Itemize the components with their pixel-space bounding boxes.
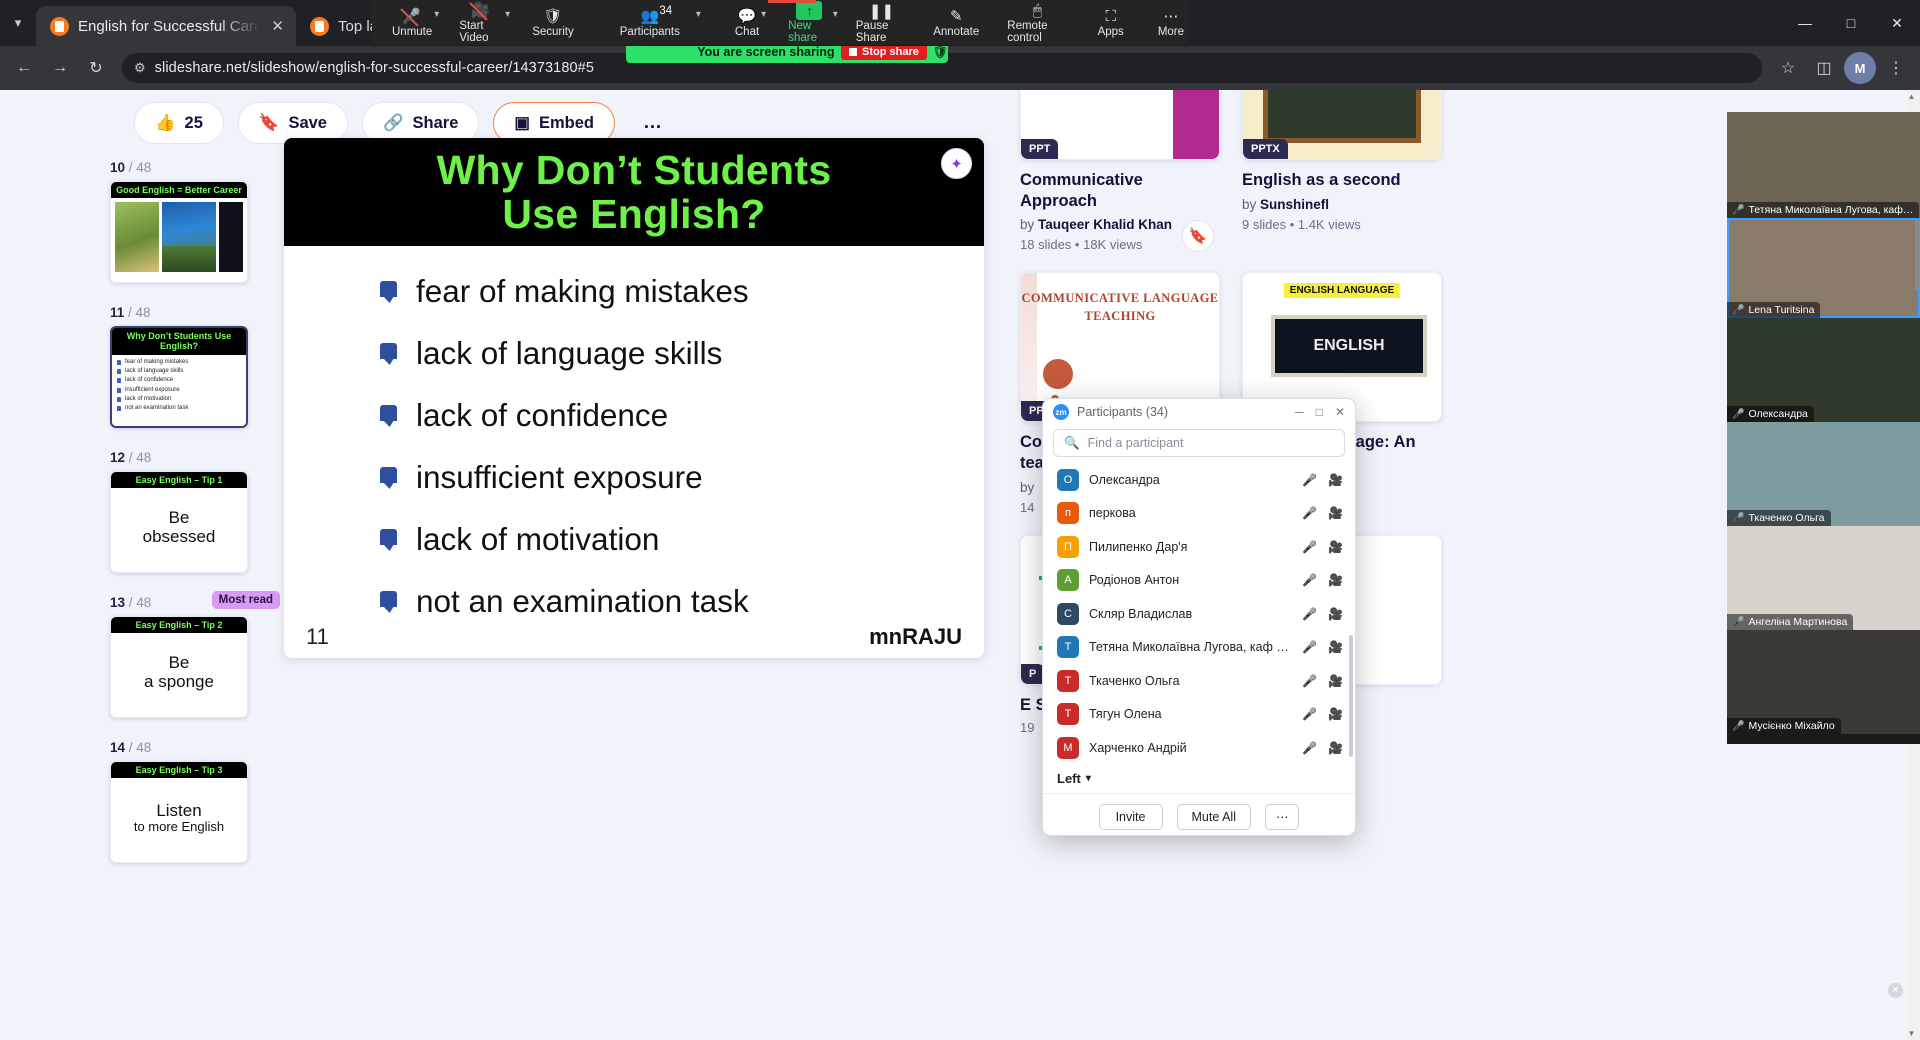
chat-bubble-icon: 💬 bbox=[738, 7, 757, 26]
forward-arrow-icon[interactable]: → bbox=[44, 52, 76, 84]
video-tile[interactable]: 🎤 Ангеліна Мартинова bbox=[1727, 526, 1920, 630]
scroll-up-arrow-icon[interactable]: ▲ bbox=[1905, 92, 1918, 101]
zoom-button-label: Unmute bbox=[392, 27, 432, 39]
slide-bullet: insufficient exposure bbox=[380, 446, 984, 508]
zoom-button-label: Annotate bbox=[933, 27, 979, 39]
thumbnail-header: Why Don’t Students Use English? bbox=[112, 328, 246, 355]
microphone-muted-icon: 🎤 bbox=[1732, 205, 1744, 216]
video-strip-scrollbar[interactable] bbox=[1915, 220, 1919, 290]
zoom-button-label: Remote control bbox=[1007, 21, 1067, 44]
microphone-muted-icon[interactable]: 🎤 bbox=[1302, 506, 1317, 520]
window-controls: — □ ✕ bbox=[1782, 0, 1920, 46]
avatar: T bbox=[1057, 670, 1079, 692]
ellipsis-icon: … bbox=[643, 112, 662, 134]
slide-title-bar: Why Don’t Students Use English? bbox=[284, 138, 984, 246]
slide-bullet-text: lack of confidence bbox=[416, 397, 668, 434]
slide-bullet-text: fear of making mistakes bbox=[416, 273, 749, 310]
slideshare-page: 👍 25 🔖 Save 🔗 Share ▣ Embed … bbox=[0, 90, 1920, 1040]
camera-off-icon[interactable]: 🎥 bbox=[1328, 674, 1343, 688]
zoom-unmute-button[interactable]: 🎤 Unmute bbox=[388, 0, 436, 46]
megaphone-bullet-icon bbox=[380, 341, 402, 365]
shield-icon[interactable]: 🛡 bbox=[933, 45, 948, 59]
thumbnail-header: Good English = Better Career bbox=[111, 182, 247, 198]
profile-avatar[interactable]: M bbox=[1844, 52, 1876, 84]
microphone-muted-icon[interactable]: 🎤 bbox=[1302, 674, 1317, 688]
sharing-indicator bbox=[768, 0, 816, 3]
minimize-icon[interactable]: ─ bbox=[1295, 405, 1304, 419]
share-icon: 🔗 bbox=[383, 114, 404, 133]
slide-bullet: fear of making mistakes bbox=[380, 260, 984, 322]
related-card[interactable]: LANGUAGE PPTX English as a second by Sun… bbox=[1242, 90, 1442, 252]
participant-row[interactable]: T Ткаченко Ольга 🎤🎥 bbox=[1043, 664, 1355, 698]
microphone-muted-icon: 🎤 bbox=[1732, 305, 1744, 316]
zoom-more-button[interactable]: ⋯ More bbox=[1154, 0, 1188, 46]
camera-off-icon[interactable]: 🎥 bbox=[1328, 506, 1343, 520]
cover-board bbox=[1263, 90, 1421, 143]
video-participant-name: 🎤 Ткаченко Ольга bbox=[1727, 510, 1831, 526]
zoom-remote-control-button[interactable]: 🖱 Remote control bbox=[1003, 0, 1071, 46]
participant-name: перкова bbox=[1089, 506, 1292, 520]
participant-name: Скляр Владислав bbox=[1089, 607, 1292, 621]
share-screen-icon: ↑ bbox=[796, 1, 822, 20]
left-participants-section[interactable]: Left ▾ bbox=[1043, 763, 1355, 793]
zoom-start-video-button[interactable]: 🎥 Start Video bbox=[455, 0, 507, 46]
thumbnail-item-12[interactable]: 12 / 48 Easy English – Tip 1 Be obsessed bbox=[110, 450, 280, 573]
slide-footer: 11 mnRAJU bbox=[284, 624, 984, 650]
avatar: M bbox=[1057, 737, 1079, 759]
slide-bullet: not an examination task bbox=[380, 570, 984, 632]
zoom-video-strip: 🎤 Тетяна Миколаївна Лугова, каф… 🎤 Lena … bbox=[1727, 112, 1920, 744]
slide-signature: mnRAJU bbox=[869, 624, 962, 650]
thumbnail-item-11[interactable]: 11 / 48 Why Don’t Students Use English? … bbox=[110, 305, 280, 428]
camera-off-icon[interactable]: 🎥 bbox=[1328, 607, 1343, 621]
video-participant-name: 🎤 Тетяна Миколаївна Лугова, каф… bbox=[1727, 202, 1919, 218]
microphone-muted-icon: 🎤 bbox=[1732, 513, 1744, 524]
participant-row[interactable]: C Скляр Владислав 🎤🎥 bbox=[1043, 597, 1355, 631]
related-card[interactable]: COL MOHAMMAD KHALID KHAN (MA ENGLISH, MA… bbox=[1020, 90, 1220, 252]
avatar: п bbox=[1057, 502, 1079, 524]
participant-row[interactable]: M Харченко Андрій 🎤🎥 bbox=[1043, 731, 1355, 763]
zoom-button-label: More bbox=[1158, 27, 1184, 39]
participant-name: Ткаченко Ольга bbox=[1089, 674, 1292, 688]
related-title[interactable]: English as a second bbox=[1242, 170, 1442, 191]
zoom-pause-share-button[interactable]: ❚❚ Pause Share bbox=[852, 0, 911, 46]
thumbnail-image[interactable]: Good English = Better Career bbox=[110, 181, 248, 283]
microphone-muted-icon[interactable]: 🎤 bbox=[1302, 573, 1317, 587]
zoom-button-label: Security bbox=[532, 27, 574, 39]
slide-bullet: lack of motivation bbox=[380, 508, 984, 570]
video-tile-active[interactable]: 🎤 Lena Turitsina bbox=[1727, 218, 1920, 318]
browser-toolbar: ← → ↻ ⚙ slideshare.net/slideshow/english… bbox=[0, 46, 1920, 90]
thumbnail-bullet: lack of language skills bbox=[117, 367, 241, 376]
share-label: Share bbox=[413, 114, 459, 133]
microphone-muted-icon[interactable]: 🎤 bbox=[1302, 707, 1317, 721]
thumbnail-number: 10 / 48 bbox=[110, 160, 280, 175]
related-author: by Sunshinefl bbox=[1242, 197, 1442, 212]
search-placeholder: Find a participant bbox=[1088, 436, 1184, 450]
related-thumbnail[interactable]: LANGUAGE PPTX bbox=[1242, 90, 1442, 160]
thumbnail-number: 11 / 48 bbox=[110, 305, 280, 320]
participant-name: Харченко Андрій bbox=[1089, 741, 1292, 755]
participants-list[interactable]: O Олександра 🎤🎥 п перкова 🎤🎥 П Пилипенко… bbox=[1043, 463, 1355, 763]
stop-share-label: Stop share bbox=[862, 46, 919, 58]
thumbnail-bullet: lack of motivation bbox=[117, 395, 241, 404]
slide-viewer: ✦ Why Don’t Students Use English? fear o… bbox=[284, 138, 984, 658]
zoom-participants-button[interactable]: 👥 34 Participants bbox=[616, 0, 684, 46]
participant-row[interactable]: T Тягун Олена 🎤🎥 bbox=[1043, 698, 1355, 732]
zoom-button-label: Pause Share bbox=[856, 21, 907, 44]
thumbnail-item-10[interactable]: 10 / 48 Good English = Better Career bbox=[110, 160, 280, 283]
zoom-apps-button[interactable]: ⛶ Apps bbox=[1094, 0, 1128, 46]
tab-title: English for Successful Career | P bbox=[78, 18, 260, 35]
thumbnail-image[interactable]: Easy English – Tip 1 Be obsessed bbox=[110, 471, 248, 573]
microphone-muted-icon[interactable]: 🎤 bbox=[1302, 607, 1317, 621]
participant-name: Тетяна Миколаївна Лугова, каф Англ мо… bbox=[1089, 640, 1292, 654]
scroll-down-arrow-icon[interactable]: ▼ bbox=[1905, 1029, 1918, 1038]
video-tile[interactable]: 🎤 Ткаченко Ольга bbox=[1727, 422, 1920, 526]
megaphone-bullet-icon bbox=[380, 465, 402, 489]
participants-scrollbar[interactable] bbox=[1349, 635, 1353, 757]
participant-row[interactable]: O Олександра 🎤🎥 bbox=[1043, 463, 1355, 497]
maximize-icon[interactable]: □ bbox=[1828, 0, 1874, 46]
cover-text: ENGLISH LANGUAGE bbox=[1284, 283, 1400, 298]
close-icon[interactable]: ✕ bbox=[269, 17, 284, 35]
slideshare-favicon bbox=[310, 17, 329, 36]
extensions-icon[interactable]: ◫ bbox=[1808, 52, 1840, 84]
avatar: T bbox=[1057, 703, 1079, 725]
thumbnail-bullet: not an examination task bbox=[117, 404, 241, 413]
url-text: slideshare.net/slideshow/english-for-suc… bbox=[155, 60, 594, 76]
camera-off-icon[interactable]: 🎥 bbox=[1328, 741, 1343, 755]
sparkle-icon[interactable]: ✦ bbox=[941, 148, 972, 179]
section-label: Left bbox=[1057, 771, 1081, 786]
zoom-meeting-toolbar: 🎤 Unmute ▾ 🎥 Start Video ▾ 🛡 Security 👥 … bbox=[372, 0, 1188, 46]
chevron-down-icon[interactable]: ▾ bbox=[1086, 773, 1091, 784]
video-participant-name: 🎤 Олександра bbox=[1727, 406, 1814, 422]
thumbnail-number: 14 / 48 bbox=[110, 740, 280, 755]
microphone-muted-icon[interactable]: 🎤 bbox=[1302, 540, 1317, 554]
bookmark-icon[interactable]: 🔖 bbox=[1182, 220, 1214, 252]
camera-off-icon[interactable]: 🎥 bbox=[1328, 707, 1343, 721]
slide-bullet-text: not an examination task bbox=[416, 583, 749, 620]
cover-text: COMMUNICATIVE LANGUAGE TEACHING bbox=[1021, 289, 1219, 325]
cover-accent bbox=[1173, 90, 1219, 159]
thumbnail-header: Easy English – Tip 3 bbox=[111, 762, 247, 778]
shield-icon: 🛡 bbox=[543, 7, 562, 26]
thumbnail-text: Be obsessed bbox=[111, 488, 247, 566]
tab-search-icon[interactable]: ▾ bbox=[0, 0, 36, 46]
zoom-security-button[interactable]: 🛡 Security bbox=[528, 0, 578, 46]
video-tile[interactable]: 🎤 Мусієнко Міхайло bbox=[1727, 630, 1920, 734]
thumbnail-text: Listen to more English bbox=[111, 778, 247, 856]
apps-icon: ⛶ bbox=[1105, 7, 1116, 26]
thumbnail-image-selected[interactable]: Why Don’t Students Use English? fear of … bbox=[110, 326, 248, 428]
participant-name: Родіонов Антон bbox=[1089, 573, 1292, 587]
avatar: O bbox=[1057, 469, 1079, 491]
photo-placeholder bbox=[219, 202, 243, 272]
participant-row[interactable]: п перкова 🎤🎥 bbox=[1043, 497, 1355, 531]
close-icon[interactable]: ✕ bbox=[1335, 405, 1345, 419]
photo-placeholder bbox=[162, 202, 216, 272]
participants-count: 34 bbox=[659, 5, 672, 17]
close-icon[interactable]: ✕ bbox=[1888, 983, 1903, 998]
kebab-menu-icon[interactable]: ⋮ bbox=[1880, 52, 1912, 84]
stop-square-icon bbox=[849, 48, 857, 56]
thumbnail-image[interactable]: Easy English – Tip 2 Be a sponge bbox=[110, 616, 248, 718]
star-icon[interactable]: ☆ bbox=[1772, 52, 1804, 84]
zoom-chat-button[interactable]: 💬 Chat bbox=[731, 0, 763, 46]
participants-panel-titlebar: zm Participants (34) ─ □ ✕ bbox=[1043, 399, 1355, 425]
zoom-button-label: New share bbox=[788, 21, 831, 44]
format-badge: P bbox=[1021, 664, 1044, 684]
zoom-participants-panel: zm Participants (34) ─ □ ✕ 🔍 Find a part… bbox=[1042, 398, 1356, 836]
format-badge: PPTX bbox=[1243, 139, 1288, 159]
zoom-button-label: Chat bbox=[735, 27, 759, 39]
thumbnail-bullet: insufficient exposure bbox=[117, 386, 241, 395]
slideshare-favicon bbox=[50, 17, 69, 36]
slide-page-number: 11 bbox=[306, 624, 329, 650]
participants-panel-title: Participants (34) bbox=[1077, 405, 1168, 419]
site-settings-icon[interactable]: ⚙ bbox=[134, 60, 146, 76]
thumbnail-bullet: fear of making mistakes bbox=[117, 358, 241, 367]
thumbnail-item-14[interactable]: 14 / 48 Easy English – Tip 3 Listen to m… bbox=[110, 740, 280, 863]
participant-search-input[interactable]: 🔍 Find a participant bbox=[1053, 429, 1345, 457]
microphone-muted-icon: 🎤 bbox=[402, 7, 422, 26]
chrome-browser-window: ▾ English for Successful Career | P ✕ To… bbox=[0, 0, 1920, 1040]
zoom-button-label: Apps bbox=[1098, 27, 1124, 39]
cover-board: ENGLISH bbox=[1271, 315, 1427, 377]
most-read-badge: Most read bbox=[212, 591, 280, 609]
participant-name: Олександра bbox=[1089, 473, 1292, 487]
slide-bullet-text: lack of motivation bbox=[416, 521, 659, 558]
thumbnail-bullets: fear of making mistakes lack of language… bbox=[112, 355, 246, 417]
cover-dot bbox=[1043, 359, 1073, 389]
embed-icon: ▣ bbox=[514, 113, 530, 133]
slide-bullet: lack of confidence bbox=[380, 384, 984, 446]
more-options-button[interactable]: ⋯ bbox=[1265, 804, 1300, 830]
slide-title: Why Don’t Students Use English? bbox=[437, 148, 832, 237]
slide-bullet-list: fear of making mistakes lack of language… bbox=[284, 246, 984, 632]
related-meta: 9 slides • 1.4K views bbox=[1242, 217, 1442, 232]
zoom-button-label: Participants bbox=[620, 27, 680, 39]
microphone-muted-icon[interactable]: 🎤 bbox=[1302, 640, 1317, 654]
ellipsis-icon: ⋯ bbox=[1163, 7, 1178, 26]
browser-tab-0[interactable]: English for Successful Career | P ✕ bbox=[36, 6, 296, 46]
video-participant-name: 🎤 Мусієнко Міхайло bbox=[1727, 718, 1841, 734]
zoom-button-label: Start Video bbox=[459, 21, 503, 44]
microphone-muted-icon: 🎤 bbox=[1732, 617, 1744, 628]
participants-panel-footer: Invite Mute All ⋯ bbox=[1043, 793, 1355, 836]
back-arrow-icon[interactable]: ← bbox=[8, 52, 40, 84]
like-count: 25 bbox=[185, 114, 203, 133]
microphone-muted-icon[interactable]: 🎤 bbox=[1302, 473, 1317, 487]
megaphone-bullet-icon bbox=[380, 589, 402, 613]
participant-row[interactable]: П Пилипенко Дар'я 🎤🎥 bbox=[1043, 530, 1355, 564]
participants-icon: 👥 34 bbox=[640, 7, 659, 26]
save-label: Save bbox=[288, 114, 327, 133]
pause-icon: ❚❚ bbox=[869, 1, 894, 20]
camera-off-icon[interactable]: 🎥 bbox=[1328, 540, 1343, 554]
chevron-down-icon[interactable]: ▾ bbox=[696, 9, 701, 20]
like-button[interactable]: 👍 25 bbox=[134, 102, 224, 144]
avatar: C bbox=[1057, 603, 1079, 625]
related-row: COL MOHAMMAD KHALID KHAN (MA ENGLISH, MA… bbox=[1020, 90, 1490, 252]
video-tile[interactable]: 🎤 Тетяна Миколаївна Лугова, каф… bbox=[1727, 112, 1920, 218]
avatar: A bbox=[1057, 569, 1079, 591]
microphone-muted-icon: 🎤 bbox=[1732, 409, 1744, 420]
thumbnail-header: Easy English – Tip 1 bbox=[111, 472, 247, 488]
embed-label: Embed bbox=[539, 114, 594, 133]
zoom-logo-icon: zm bbox=[1053, 404, 1069, 420]
participant-name: Пилипенко Дар'я bbox=[1089, 540, 1292, 554]
thumbnail-item-13[interactable]: 13 / 48 Most read Easy English – Tip 2 B… bbox=[110, 595, 280, 718]
participant-row[interactable]: T Тетяна Миколаївна Лугова, каф Англ мо…… bbox=[1043, 631, 1355, 665]
video-tile[interactable]: 🎤 Олександра bbox=[1727, 318, 1920, 422]
thumbnail-art bbox=[111, 198, 247, 276]
camera-off-icon[interactable]: 🎥 bbox=[1328, 573, 1343, 587]
cover-board-text: ENGLISH bbox=[1313, 337, 1384, 355]
video-participant-name: 🎤 Lena Turitsina bbox=[1727, 302, 1820, 318]
close-window-icon[interactable]: ✕ bbox=[1874, 0, 1920, 46]
participant-row[interactable]: A Родіонов Антон 🎤🎥 bbox=[1043, 564, 1355, 598]
microphone-muted-icon: 🎤 bbox=[1732, 721, 1744, 732]
related-title[interactable]: Communicative Approach bbox=[1020, 170, 1220, 211]
megaphone-bullet-icon bbox=[380, 403, 402, 427]
reload-icon[interactable]: ↻ bbox=[80, 52, 112, 84]
maximize-icon[interactable]: □ bbox=[1316, 405, 1323, 419]
microphone-muted-icon[interactable]: 🎤 bbox=[1302, 741, 1317, 755]
invite-button[interactable]: Invite bbox=[1099, 804, 1163, 830]
slide-bullet-text: insufficient exposure bbox=[416, 459, 703, 496]
thumbnail-image[interactable]: Easy English – Tip 3 Listen to more Engl… bbox=[110, 761, 248, 863]
camera-off-icon: 🎥 bbox=[471, 1, 491, 20]
thumbnail-bullet: lack of confidence bbox=[117, 376, 241, 385]
format-badge: PPT bbox=[1021, 139, 1058, 159]
camera-icon[interactable]: 🎥 bbox=[1328, 473, 1343, 487]
participant-name: Тягун Олена bbox=[1089, 707, 1292, 721]
slide-bullet: lack of language skills bbox=[380, 322, 984, 384]
megaphone-bullet-icon bbox=[380, 279, 402, 303]
search-icon: 🔍 bbox=[1064, 436, 1080, 451]
zoom-annotate-button[interactable]: ✎ Annotate bbox=[929, 0, 983, 46]
avatar: П bbox=[1057, 536, 1079, 558]
minimize-icon[interactable]: — bbox=[1782, 0, 1828, 46]
slide-bullet-text: lack of language skills bbox=[416, 335, 722, 372]
thumbnail-header: Easy English – Tip 2 bbox=[111, 617, 247, 633]
mute-all-button[interactable]: Mute All bbox=[1177, 804, 1251, 830]
thumbnail-text: Be a sponge bbox=[111, 633, 247, 711]
avatar: T bbox=[1057, 636, 1079, 658]
mouse-icon: 🖱 bbox=[1033, 1, 1042, 20]
current-slide[interactable]: Why Don’t Students Use English? fear of … bbox=[284, 138, 984, 658]
thumbnail-number: 12 / 48 bbox=[110, 450, 280, 465]
related-thumbnail[interactable]: COL MOHAMMAD KHALID KHAN (MA ENGLISH, MA… bbox=[1020, 90, 1220, 160]
pencil-icon: ✎ bbox=[950, 7, 963, 26]
video-participant-name: 🎤 Ангеліна Мартинова bbox=[1727, 614, 1853, 630]
slide-thumbnail-rail[interactable]: 10 / 48 Good English = Better Career bbox=[110, 160, 280, 1040]
thumbs-up-icon: 👍 bbox=[155, 114, 176, 133]
bookmark-icon: 🔖 bbox=[259, 114, 280, 133]
camera-icon[interactable]: 🎥 bbox=[1328, 640, 1343, 654]
photo-placeholder bbox=[115, 202, 159, 272]
megaphone-bullet-icon bbox=[380, 527, 402, 551]
zoom-new-share-button[interactable]: ↑ New share bbox=[784, 0, 835, 46]
